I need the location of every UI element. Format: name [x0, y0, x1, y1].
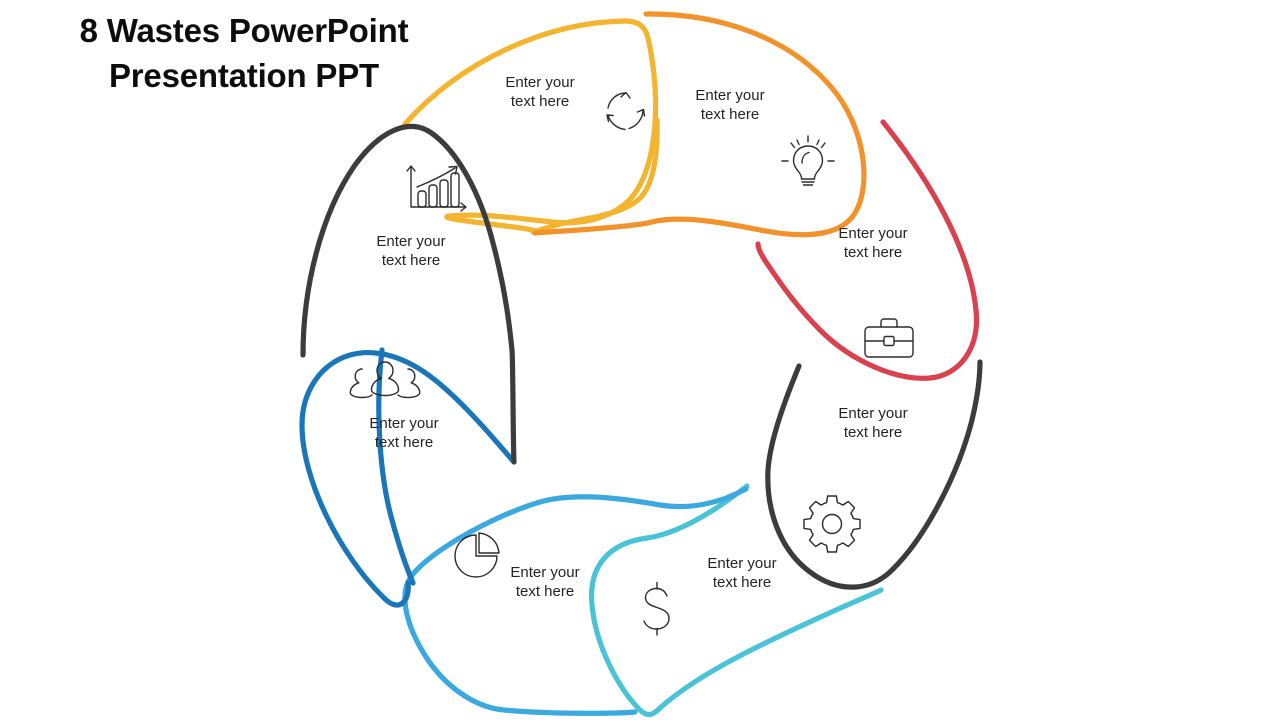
segment-7-inner-edge	[379, 350, 413, 583]
cycle-diagram-svg	[280, 0, 1010, 720]
segment-1-label: Enter your text here	[480, 73, 600, 111]
segment-2-outline[interactable]	[535, 14, 864, 235]
segment-2-label: Enter your text here	[670, 86, 790, 124]
segment-5-outline[interactable]	[592, 486, 881, 714]
segment-1-outline-lower[interactable]	[533, 120, 657, 232]
cycle-diagram: Enter your text here Enter your text her…	[280, 0, 1010, 720]
segment-7-label: Enter your text here	[344, 414, 464, 452]
segment-6-label: Enter your text here	[485, 563, 605, 601]
segment-3-label: Enter your text here	[813, 224, 933, 262]
segment-8-label: Enter your text here	[351, 232, 471, 270]
segment-1-outline[interactable]	[405, 21, 656, 232]
segment-8-outline[interactable]	[303, 126, 514, 462]
segment-5-label: Enter your text here	[682, 554, 802, 592]
segment-4-label: Enter your text here	[813, 404, 933, 442]
slide-canvas: 8 Wastes PowerPoint Presentation PPT	[0, 0, 1280, 720]
